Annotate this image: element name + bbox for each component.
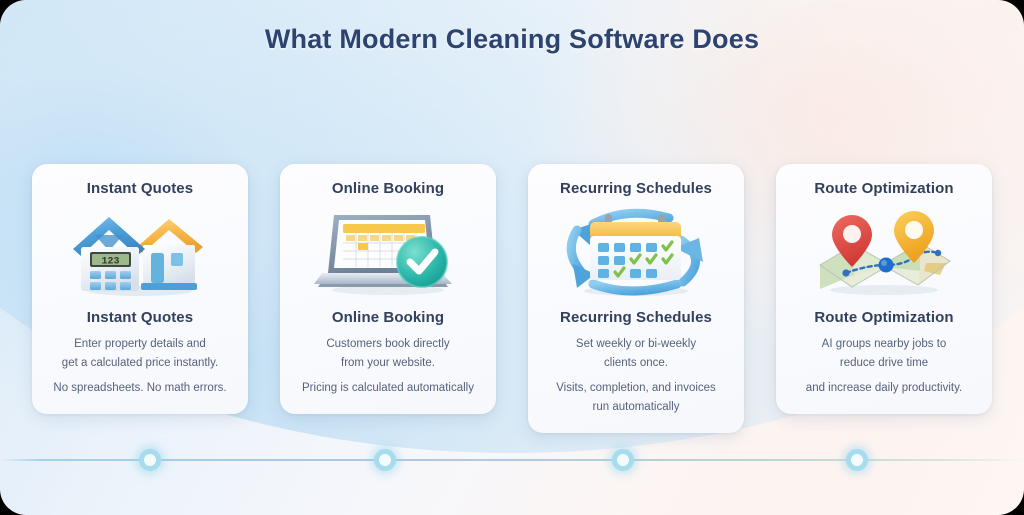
timeline-node-4[interactable]	[846, 449, 868, 471]
feature-card-instant-quotes[interactable]: Instant Quotes	[32, 164, 248, 414]
card-title: Recurring Schedules	[537, 309, 735, 326]
card-description: AI groups nearby jobs to reduce drive ti…	[785, 335, 983, 398]
card-desc-line: run automatically	[537, 398, 735, 417]
map-route-pins-icon	[785, 203, 983, 299]
card-desc-line: Visits, completion, and invoices	[537, 379, 735, 398]
card-description: Set weekly or bi-weekly clients once. Vi…	[537, 335, 735, 417]
card-desc-line: and increase daily productivity.	[785, 379, 983, 398]
card-desc-line: AI groups nearby jobs to	[785, 335, 983, 354]
card-desc-line: Enter property details and	[41, 335, 239, 354]
card-description: Customers book directly from your websit…	[289, 335, 487, 398]
card-desc-line: reduce drive time	[785, 354, 983, 373]
calendar-recurring-arrows-icon	[537, 203, 735, 299]
infographic-stage: What Modern Cleaning Software Does Insta…	[0, 0, 1024, 515]
card-desc-line: clients once.	[537, 354, 735, 373]
feature-card-route-optimization[interactable]: Route Optimization	[776, 164, 992, 414]
card-top-title: Online Booking	[289, 180, 487, 197]
feature-card-row: Instant Quotes	[32, 164, 992, 433]
card-desc-line: from your website.	[289, 354, 487, 373]
timeline-node-3[interactable]	[612, 449, 634, 471]
card-title: Instant Quotes	[41, 309, 239, 326]
card-top-title: Recurring Schedules	[537, 180, 735, 197]
card-top-title: Instant Quotes	[41, 180, 239, 197]
card-top-title: Route Optimization	[785, 180, 983, 197]
card-desc-line: Set weekly or bi-weekly	[537, 335, 735, 354]
card-desc-line: Pricing is calculated automatically	[289, 379, 487, 398]
card-title: Route Optimization	[785, 309, 983, 326]
timeline-node-2[interactable]	[374, 449, 396, 471]
card-desc-line: get a calculated price instantly.	[41, 354, 239, 373]
feature-card-online-booking[interactable]: Online Booking	[280, 164, 496, 414]
card-desc-line: Customers book directly	[289, 335, 487, 354]
progress-timeline	[0, 443, 1024, 477]
calculator-display-value: 123	[101, 257, 119, 268]
card-desc-line: No spreadsheets. No math errors.	[41, 379, 239, 398]
card-title: Online Booking	[289, 309, 487, 326]
timeline-node-1[interactable]	[139, 449, 161, 471]
page-title: What Modern Cleaning Software Does	[0, 24, 1024, 55]
card-description: Enter property details and get a calcula…	[41, 335, 239, 398]
feature-card-recurring-schedules[interactable]: Recurring Schedules	[528, 164, 744, 433]
house-calculator-icon: 123	[41, 203, 239, 299]
laptop-calendar-check-icon	[289, 203, 487, 299]
